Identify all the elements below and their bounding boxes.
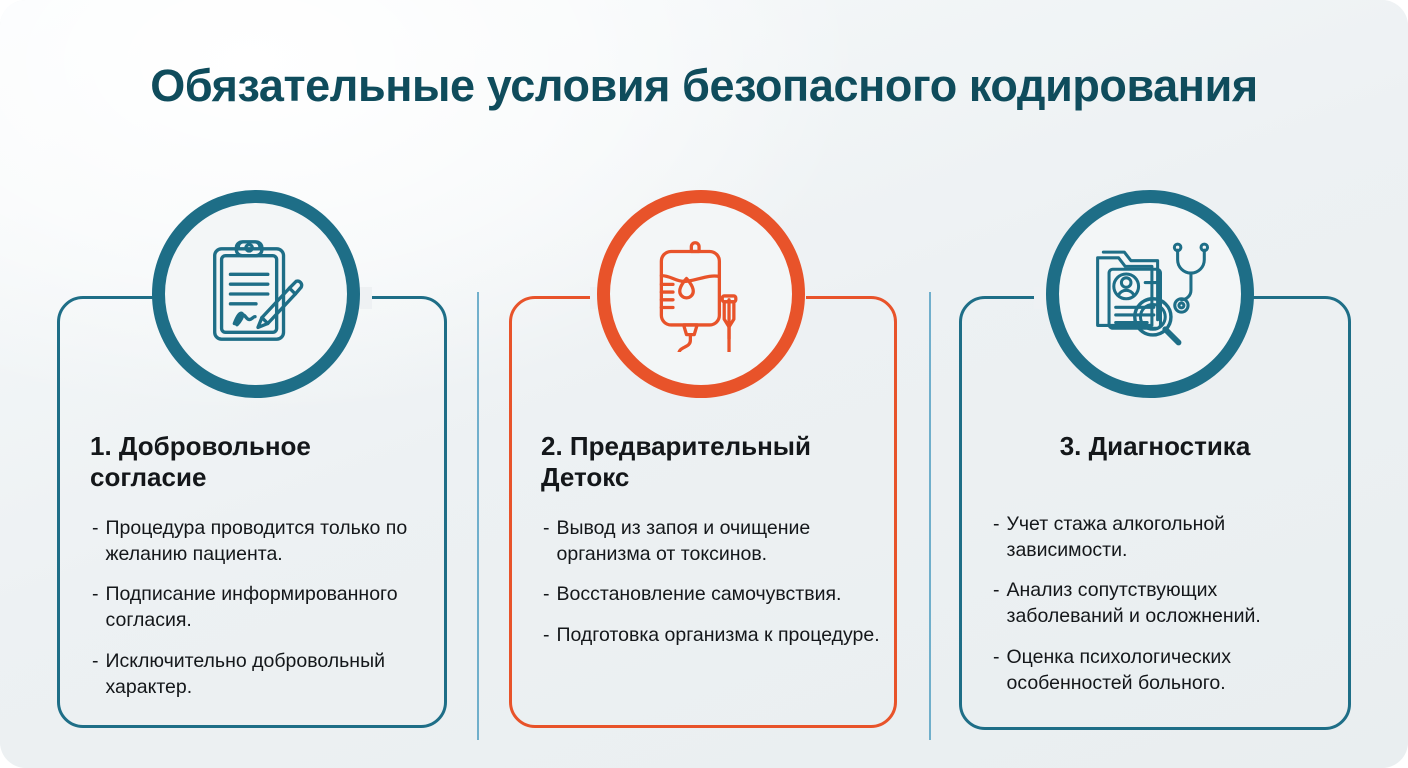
bullet-dash: - xyxy=(543,623,550,649)
list-item: - Исключительно добровольный характер. xyxy=(92,649,442,700)
bullet-dash: - xyxy=(92,582,99,633)
card-heading-3: 3. Диагностика xyxy=(959,431,1351,462)
column-divider-1 xyxy=(477,292,479,740)
bullet-list-1: - Процедура проводится только по желанию… xyxy=(92,516,442,715)
icon-circle-preliminary-detox xyxy=(597,190,805,398)
list-item: - Восстановление самочувствия. xyxy=(543,582,883,608)
column-divider-2 xyxy=(929,292,931,740)
bullet-dash: - xyxy=(993,578,1000,629)
icon-circle-diagnostics xyxy=(1046,190,1254,398)
bullet-text: Восстановление самочувствия. xyxy=(557,582,884,608)
card-heading-1: 1. Добровольное согласие xyxy=(90,431,420,492)
bullet-text: Учет стажа алкогольной зависимости. xyxy=(1007,512,1334,563)
patient-file-diagnosis-icon xyxy=(1090,235,1210,353)
bullet-dash: - xyxy=(993,512,1000,563)
bullet-text: Подготовка организма к процедуре. xyxy=(557,623,884,649)
bullet-text: Подписание информированного согласия. xyxy=(106,582,443,633)
bullet-text: Процедура проводится только по желанию п… xyxy=(106,516,443,567)
icon-circle-voluntary-consent xyxy=(152,190,360,398)
bullet-dash: - xyxy=(92,649,99,700)
list-item: - Учет стажа алкогольной зависимости. xyxy=(993,512,1333,563)
list-item: - Подписание информированного согласия. xyxy=(92,582,442,633)
infographic-canvas: Обязательные условия безопасного кодиров… xyxy=(0,0,1408,768)
card-heading-2: 2. Предварительный Детокс xyxy=(541,431,871,492)
list-item: - Вывод из запоя и очищение организма от… xyxy=(543,516,883,567)
bullet-list-2: - Вывод из запоя и очищение организма от… xyxy=(543,516,883,664)
list-item: - Процедура проводится только по желанию… xyxy=(92,516,442,567)
bullet-dash: - xyxy=(543,582,550,608)
list-item: - Оценка психологических особенностей бо… xyxy=(993,645,1333,696)
bullet-text: Анализ сопутствующих заболеваний и ослож… xyxy=(1007,578,1334,629)
bullet-list-3: - Учет стажа алкогольной зависимости. - … xyxy=(993,512,1333,711)
bullet-dash: - xyxy=(543,516,550,567)
bullet-dash: - xyxy=(993,645,1000,696)
page-title: Обязательные условия безопасного кодиров… xyxy=(0,60,1408,112)
clipboard-signature-icon xyxy=(197,235,315,353)
bullet-text: Оценка психологических особенностей боль… xyxy=(1007,645,1334,696)
bullet-text: Вывод из запоя и очищение организма от т… xyxy=(557,516,884,567)
list-item: - Подготовка организма к процедуре. xyxy=(543,623,883,649)
bullet-dash: - xyxy=(92,516,99,567)
iv-drip-bag-icon xyxy=(643,236,759,352)
bullet-text: Исключительно добровольный характер. xyxy=(106,649,443,700)
list-item: - Анализ сопутствующих заболеваний и осл… xyxy=(993,578,1333,629)
